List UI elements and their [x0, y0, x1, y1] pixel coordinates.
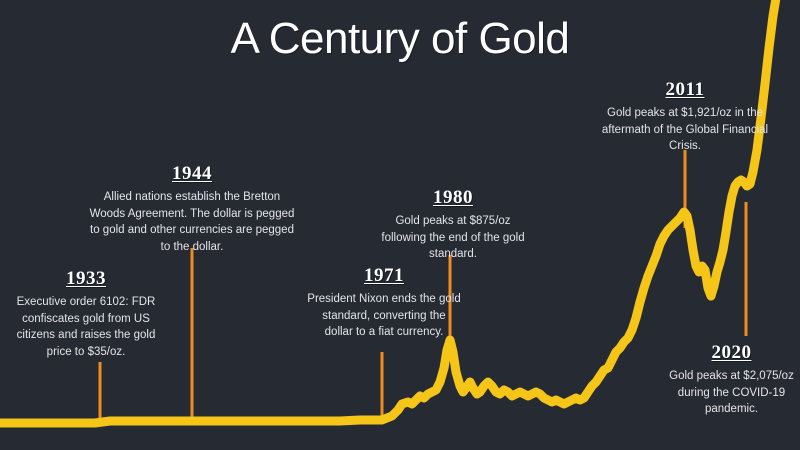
annotation-1980[interactable]: 1980 Gold peaks at $875/oz following the… — [377, 187, 529, 263]
annotation-year: 1933 — [6, 268, 166, 290]
annotation-year: 2011 — [598, 79, 772, 101]
annotation-body: President Nixon ends the gold standard, … — [307, 291, 461, 341]
annotation-year: 1944 — [88, 163, 296, 185]
annotation-1971[interactable]: 1971 President Nixon ends the gold stand… — [307, 265, 461, 341]
annotation-body: Gold peaks at $875/oz following the end … — [377, 213, 529, 263]
annotation-2011[interactable]: 2011 Gold peaks at $1,921/oz in the afte… — [598, 79, 772, 155]
annotation-year: 1971 — [307, 265, 461, 287]
annotation-1933[interactable]: 1933 Executive order 6102: FDR confiscat… — [6, 268, 166, 361]
annotation-body: Allied nations establish the Bretton Woo… — [88, 189, 296, 256]
annotation-1944[interactable]: 1944 Allied nations establish the Bretto… — [88, 163, 296, 256]
infographic-canvas: A Century of Gold 1933 Executive order 6… — [0, 0, 800, 450]
annotation-2020[interactable]: 2020 Gold peaks at $2,075/oz during the … — [663, 342, 800, 418]
annotation-body: Gold peaks at $2,075/oz during the COVID… — [663, 368, 800, 418]
annotation-year: 2020 — [663, 342, 800, 364]
annotation-year: 1980 — [377, 187, 529, 209]
annotation-body: Gold peaks at $1,921/oz in the aftermath… — [598, 105, 772, 155]
annotation-body: Executive order 6102: FDR confiscates go… — [6, 294, 166, 361]
